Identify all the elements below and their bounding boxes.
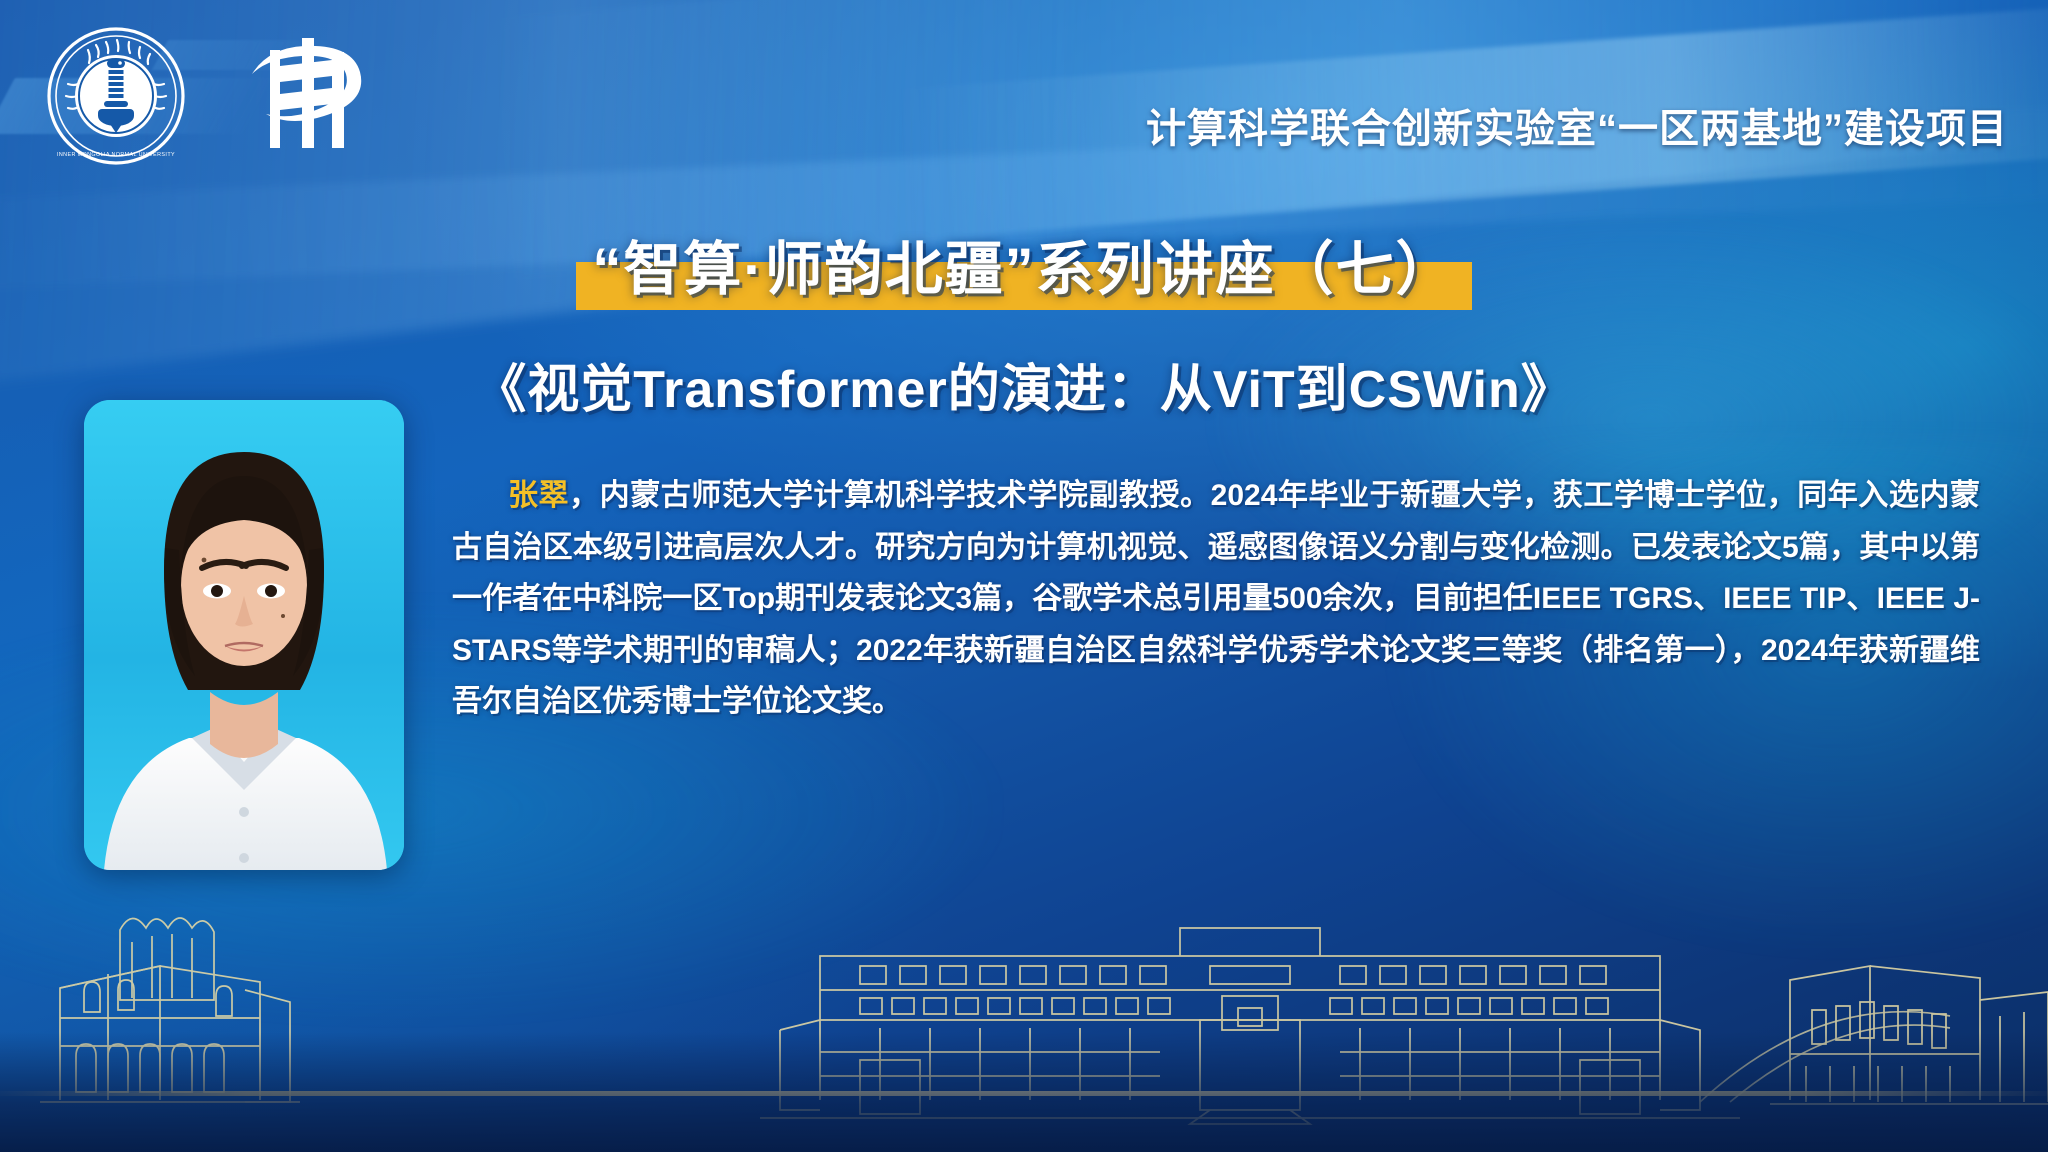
speaker-portrait: [84, 400, 404, 870]
inner-mongolia-normal-university-seal-icon: INNER MONGOLIA NORMAL UNIVERSITY: [46, 26, 186, 166]
main-title: “智算·师韵北疆”系列讲座（七）: [576, 218, 1471, 316]
logo-group: INNER MONGOLIA NORMAL UNIVERSITY: [46, 26, 366, 166]
china-unicom-logo-icon: [240, 30, 366, 162]
project-header-title: 计算科学联合创新实验室“一区两基地”建设项目: [1146, 96, 2008, 154]
lecture-poster: INNER MONGOLIA NORMAL UNIVERSITY 计算科学联合创…: [0, 0, 2048, 1152]
speaker-name: 张翠: [508, 479, 569, 512]
seal-caption: INNER MONGOLIA NORMAL UNIVERSITY: [57, 152, 175, 158]
portrait-photo: [84, 400, 404, 870]
bottom-fade-overlay: [0, 1032, 2048, 1152]
main-title-text: “智算·师韵北疆”系列讲座（七）: [592, 237, 1455, 302]
speaker-bio-text: ，内蒙古师范大学计算机科学技术学院副教授。2024年毕业于新疆大学，获工学博士学…: [452, 479, 1980, 718]
main-title-container: “智算·师韵北疆”系列讲座（七）: [0, 218, 2048, 316]
speaker-bio: 张翠，内蒙古师范大学计算机科学技术学院副教授。2024年毕业于新疆大学，获工学博…: [452, 470, 1980, 728]
